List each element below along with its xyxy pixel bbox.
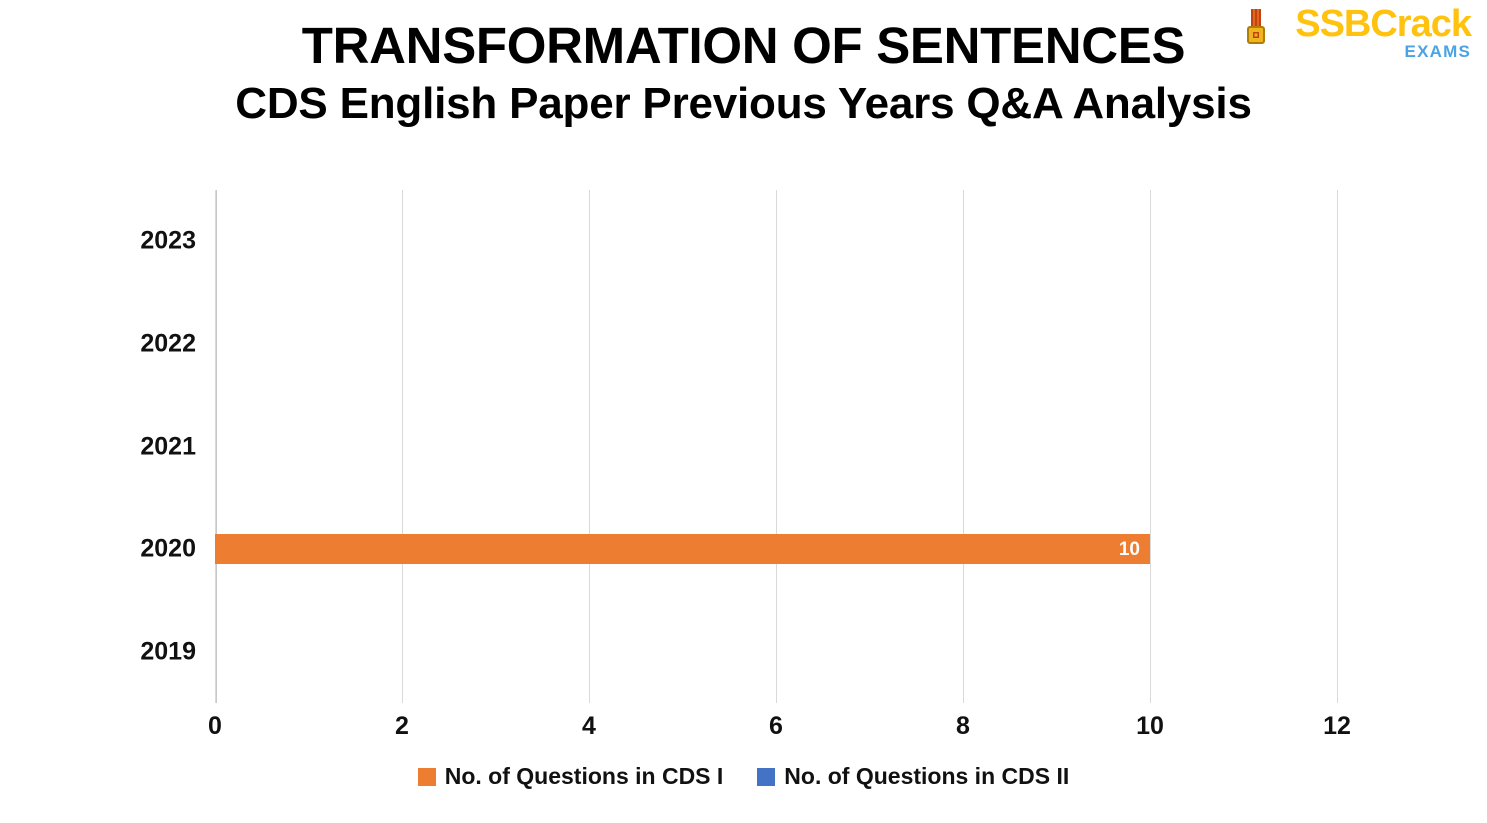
x-axis-tick-label: 12	[1323, 712, 1351, 741]
legend-label-cds-ii: No. of Questions in CDS II	[784, 765, 1069, 788]
gridline	[1337, 190, 1338, 703]
brand-name: SSBCrack	[1295, 7, 1471, 42]
y-axis-tick-label: 2023	[0, 227, 196, 256]
brand-logo: SSBCrack EXAMS	[1243, 7, 1471, 63]
x-axis-tick-label: 0	[208, 712, 222, 741]
y-axis-tick-label: 2020	[0, 535, 196, 564]
bar-value-label: 10	[1119, 540, 1150, 559]
chart-screenshot: TRANSFORMATION OF SENTENCES CDS English …	[0, 0, 1487, 823]
chart-subtitle: CDS English Paper Previous Years Q&A Ana…	[0, 79, 1487, 130]
x-axis-tick-label: 6	[769, 712, 783, 741]
bar[interactable]: 10	[215, 534, 1150, 564]
legend-label-cds-i: No. of Questions in CDS I	[445, 765, 724, 788]
x-axis-tick-label: 4	[582, 712, 596, 741]
y-axis-tick-label: 2019	[0, 637, 196, 666]
y-axis-tick-label: 2022	[0, 329, 196, 358]
y-axis-tick-label: 2021	[0, 432, 196, 461]
bar-row	[215, 293, 1337, 396]
x-axis-tick-label: 10	[1136, 712, 1164, 741]
legend-swatch-cds-ii	[757, 768, 775, 786]
bar-row	[215, 190, 1337, 293]
chart-legend: No. of Questions in CDS I No. of Questio…	[0, 765, 1487, 788]
legend-item-cds-i[interactable]: No. of Questions in CDS I	[418, 765, 724, 788]
x-axis-tick-label: 8	[956, 712, 970, 741]
bar-row	[215, 395, 1337, 498]
bar-row: 10	[215, 498, 1337, 601]
medal-icon	[1243, 9, 1269, 55]
legend-item-cds-ii[interactable]: No. of Questions in CDS II	[757, 765, 1069, 788]
brand-subtitle: EXAMS	[1405, 43, 1471, 60]
legend-swatch-cds-i	[418, 768, 436, 786]
x-axis-tick-label: 2	[395, 712, 409, 741]
bar-row	[215, 600, 1337, 703]
plot-area: 10	[215, 190, 1337, 703]
brand-text: SSBCrack EXAMS	[1270, 7, 1471, 60]
